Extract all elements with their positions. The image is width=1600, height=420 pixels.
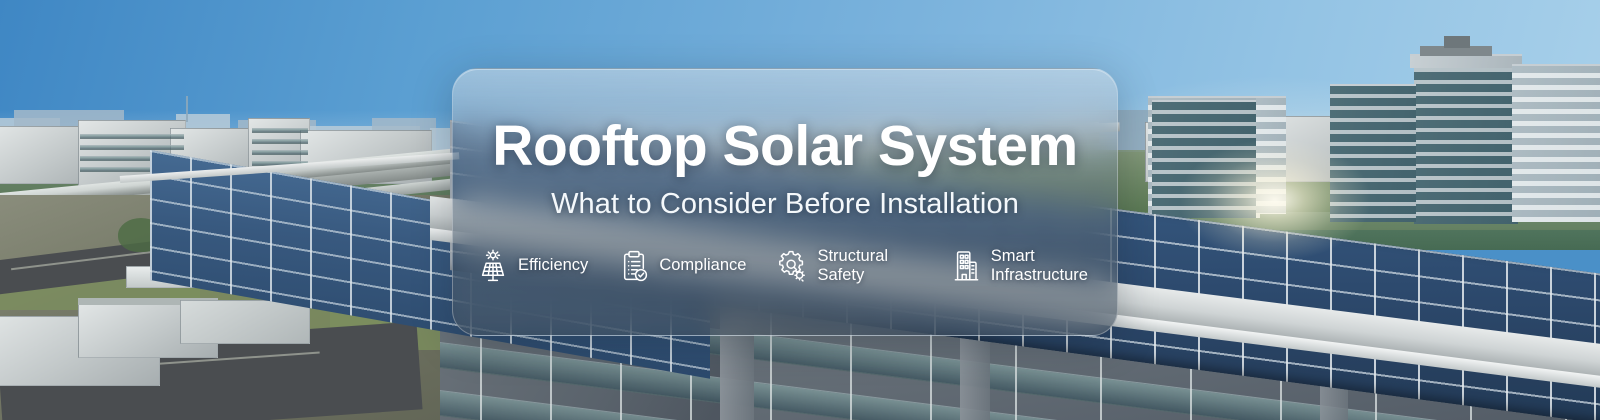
feature-item-smart-infrastructure[interactable]: Smart Infrastructure: [950, 247, 1093, 285]
feature-label: Smart Infrastructure: [991, 247, 1093, 285]
office-tower: [1410, 54, 1522, 68]
office-tower: [1512, 64, 1600, 222]
solar-panel-icon: [477, 249, 509, 283]
feature-item-structural-safety[interactable]: Structural Safety: [776, 247, 919, 285]
office-tower: [1152, 100, 1256, 218]
office-tower: [1256, 96, 1286, 214]
feature-item-efficiency[interactable]: Efficiency: [477, 249, 588, 283]
feature-label: Compliance: [659, 256, 746, 275]
office-tower: [1330, 84, 1416, 222]
clipboard-check-icon: [618, 249, 650, 283]
office-tower: [1414, 58, 1518, 224]
low-rise-building: [180, 300, 310, 344]
feature-item-compliance[interactable]: Compliance: [618, 249, 746, 283]
page-subtitle: What to Consider Before Installation: [551, 189, 1019, 221]
gear-inspection-icon: [776, 249, 808, 283]
banner-stage: Rooftop Solar System What to Consider Be…: [0, 0, 1600, 420]
feature-label: Efficiency: [518, 256, 588, 275]
feature-label: Structural Safety: [817, 247, 919, 285]
office-building-icon: [950, 249, 982, 283]
hero-glass-card: Rooftop Solar System What to Consider Be…: [452, 68, 1118, 336]
page-title: Rooftop Solar System: [492, 117, 1077, 175]
feature-list: Efficiency: [453, 247, 1117, 285]
